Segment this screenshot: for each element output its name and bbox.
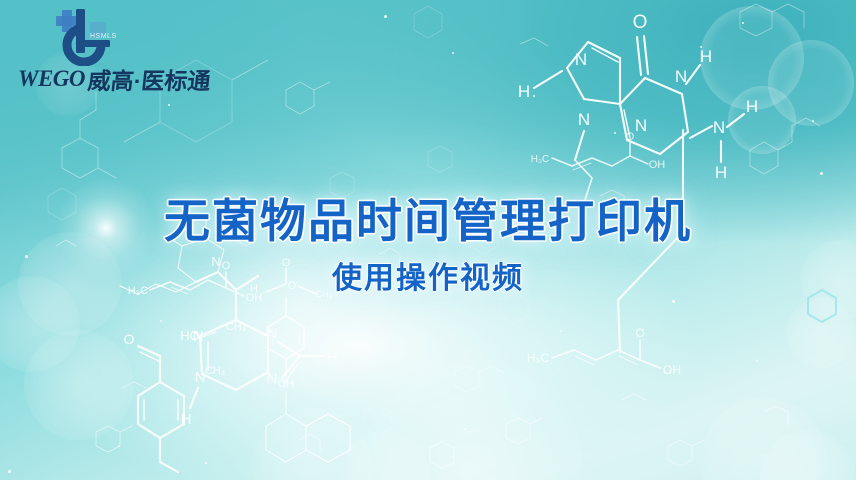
atom-label-N: N xyxy=(635,116,647,135)
brand-wordmark-cn: 威高·医标通 xyxy=(86,62,212,96)
atom-label-H: H xyxy=(327,349,338,366)
atom-label-N: N xyxy=(195,369,206,386)
atom-label-H3C: H₃C xyxy=(531,154,550,165)
brand-wordmark-en: WEGO xyxy=(18,66,85,92)
atom-label-N: N xyxy=(713,118,725,137)
wego-medical-label-logo-icon: HSMLS xyxy=(54,8,118,66)
brand-logo[interactable]: HSMLS WEGO 威高·医标通 xyxy=(12,8,202,92)
atom-label-OH: HO xyxy=(180,328,200,343)
atom-label-H3C: H₃C xyxy=(527,351,550,365)
atom-label-O: O xyxy=(124,331,135,347)
brand-wordmark: WEGO 威高·医标通 xyxy=(18,66,211,92)
atom-label-N: N xyxy=(267,370,278,387)
logo-inner-text: HSMLS xyxy=(90,33,117,40)
atom-label-H: H xyxy=(518,82,530,101)
title-group: 无菌物品时间管理打印机 使用操作视频 xyxy=(0,196,856,296)
video-title-slide: O N N N N H xyxy=(0,0,856,480)
atom-label-H: H xyxy=(715,163,727,182)
atom-label-H: H xyxy=(700,47,712,66)
atom-label-N: N xyxy=(575,50,587,69)
atom-label-N: N xyxy=(578,110,590,129)
atom-label-OH: OH xyxy=(649,159,666,171)
atom-label-O: O xyxy=(633,12,648,33)
atom-label-O: O xyxy=(626,131,635,143)
atom-label-OH: OH xyxy=(663,363,681,377)
atom-label-OH: OH xyxy=(278,378,295,390)
atom-label-H: H xyxy=(746,97,758,116)
atom-label-N: N xyxy=(675,67,687,86)
sub-title: 使用操作视频 xyxy=(0,262,856,296)
atom-label-CH3: CH₃ xyxy=(226,321,246,333)
main-title: 无菌物品时间管理打印机 xyxy=(0,196,856,246)
atom-label-CH3: CH₃ xyxy=(205,365,225,377)
atom-label-O: O xyxy=(635,326,644,340)
